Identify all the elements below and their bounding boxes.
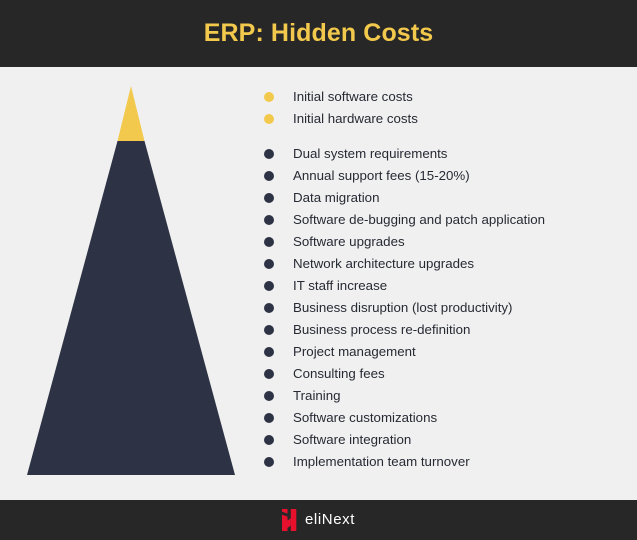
list-item[interactable]: Software customizations [262, 407, 637, 429]
list-item[interactable]: Initial hardware costs [262, 108, 637, 130]
bullet-dot-icon [264, 457, 274, 467]
bullet-dot-icon [264, 92, 274, 102]
page-title: ERP: Hidden Costs [0, 17, 637, 50]
list-item[interactable]: Business process re-definition [262, 319, 637, 341]
pyramid-tip-shape [118, 86, 145, 141]
pyramid-graphic [0, 67, 250, 500]
list-item[interactable]: Implementation team turnover [262, 451, 637, 473]
list-item-label: Implementation team turnover [293, 454, 470, 470]
infographic-poster: ERP: Hidden Costs Initial software costs… [0, 0, 637, 540]
list-item-label: Project management [293, 344, 416, 360]
bullet-dot-icon [264, 369, 274, 379]
list-item-label: Data migration [293, 190, 379, 206]
list-item[interactable]: Software de-bugging and patch applicatio… [262, 209, 637, 231]
bullet-dot-icon [264, 149, 274, 159]
list-item[interactable]: Training [262, 385, 637, 407]
hidden-costs-group: Dual system requirements Annual support … [262, 143, 637, 473]
elinext-logo-mark-icon [282, 509, 297, 531]
bullet-dot-icon [264, 391, 274, 401]
list-item-label: Annual support fees (15-20%) [293, 168, 470, 184]
list-item-label: Training [293, 388, 341, 404]
list-item-label: Software customizations [293, 410, 437, 426]
list-item-label: Consulting fees [293, 366, 385, 382]
bullet-dot-icon [264, 435, 274, 445]
list-item[interactable]: Project management [262, 341, 637, 363]
list-item-label: Initial hardware costs [293, 111, 418, 127]
bullet-dot-icon [264, 237, 274, 247]
list-item-label: Dual system requirements [293, 146, 447, 162]
bullet-dot-icon [264, 171, 274, 181]
list-item-label: Initial software costs [293, 89, 413, 105]
pyramid-body-shape [27, 141, 235, 475]
list-item[interactable]: Software upgrades [262, 231, 637, 253]
brand-wordmark: eliNext [305, 512, 355, 528]
bullet-dot-icon [264, 303, 274, 313]
list-item[interactable]: Software integration [262, 429, 637, 451]
list-item-label: Business disruption (lost productivity) [293, 300, 513, 316]
list-item[interactable]: Business disruption (lost productivity) [262, 297, 637, 319]
list-item-label: Software upgrades [293, 234, 405, 250]
brand-logo[interactable]: eliNext [282, 509, 355, 531]
list-item[interactable]: Dual system requirements [262, 143, 637, 165]
list-item-label: Network architecture upgrades [293, 256, 474, 272]
list-item[interactable]: IT staff increase [262, 275, 637, 297]
bullet-dot-icon [264, 215, 274, 225]
list-item[interactable]: Data migration [262, 187, 637, 209]
bullet-dot-icon [264, 281, 274, 291]
bullet-dot-icon [264, 325, 274, 335]
visible-costs-group: Initial software costs Initial hardware … [262, 86, 637, 130]
footer-bar: eliNext [0, 500, 637, 540]
pyramid-svg [0, 67, 250, 500]
bullet-dot-icon [264, 193, 274, 203]
bullet-dot-icon [264, 114, 274, 124]
list-item[interactable]: Annual support fees (15-20%) [262, 165, 637, 187]
list-item[interactable]: Initial software costs [262, 86, 637, 108]
list-item[interactable]: Consulting fees [262, 363, 637, 385]
bullet-dot-icon [264, 413, 274, 423]
cost-list: Initial software costs Initial hardware … [262, 86, 637, 473]
bullet-dot-icon [264, 259, 274, 269]
list-item[interactable]: Network architecture upgrades [262, 253, 637, 275]
bullet-dot-icon [264, 347, 274, 357]
list-item-label: Software integration [293, 432, 411, 448]
list-item-label: Software de-bugging and patch applicatio… [293, 212, 545, 228]
list-item-label: Business process re-definition [293, 322, 470, 338]
list-item-label: IT staff increase [293, 278, 387, 294]
